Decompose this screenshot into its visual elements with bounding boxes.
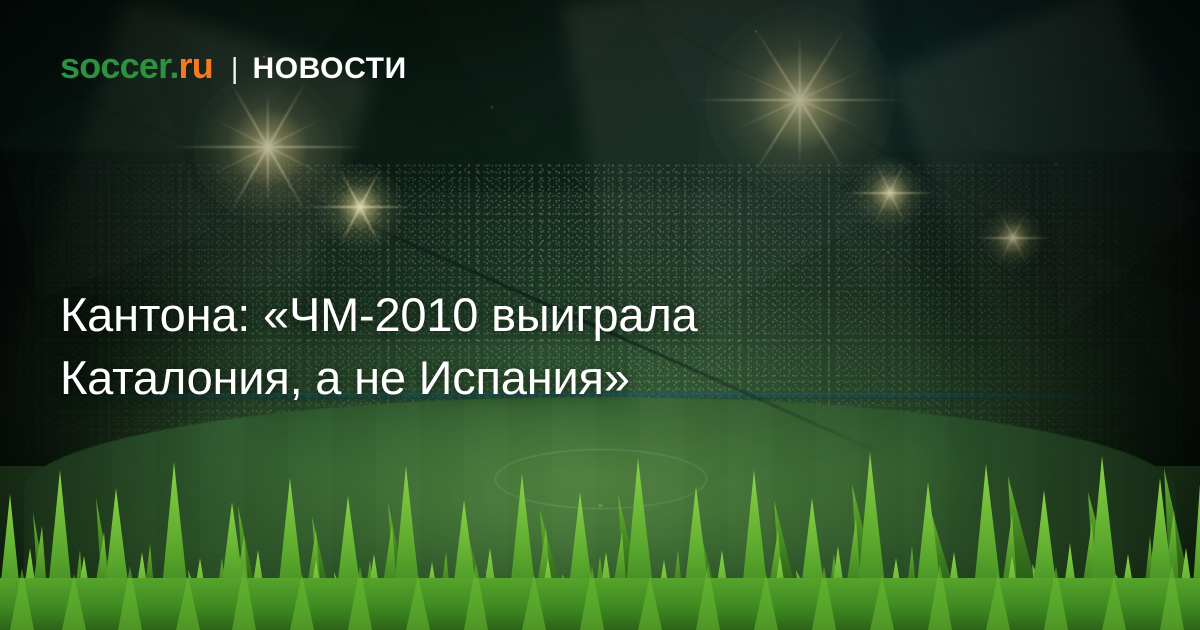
news-share-card: soccer.ru | НОВОСТИ Кантона: «ЧМ-2010 вы…	[0, 0, 1200, 630]
logo-tld-ru: ru	[179, 45, 213, 86]
centre-spot	[598, 504, 603, 507]
penalty-arc	[390, 590, 812, 630]
masthead[interactable]: soccer.ru | НОВОСТИ	[60, 48, 407, 84]
pitch-markings	[0, 378, 1200, 630]
logo-dot: .	[169, 45, 178, 86]
section-label-novosti[interactable]: НОВОСТИ	[252, 54, 406, 84]
headline-line-1: Кантона: «ЧМ-2010 выиграла	[60, 283, 960, 346]
site-logo[interactable]: soccer.ru	[60, 48, 213, 84]
masthead-separator: |	[231, 55, 239, 84]
headline-line-2: Каталония, а не Испания»	[60, 346, 960, 409]
centre-circle	[495, 449, 707, 509]
logo-word-soccer: soccer	[60, 45, 169, 86]
page-title: Кантона: «ЧМ-2010 выиграла Каталония, а …	[60, 283, 960, 409]
